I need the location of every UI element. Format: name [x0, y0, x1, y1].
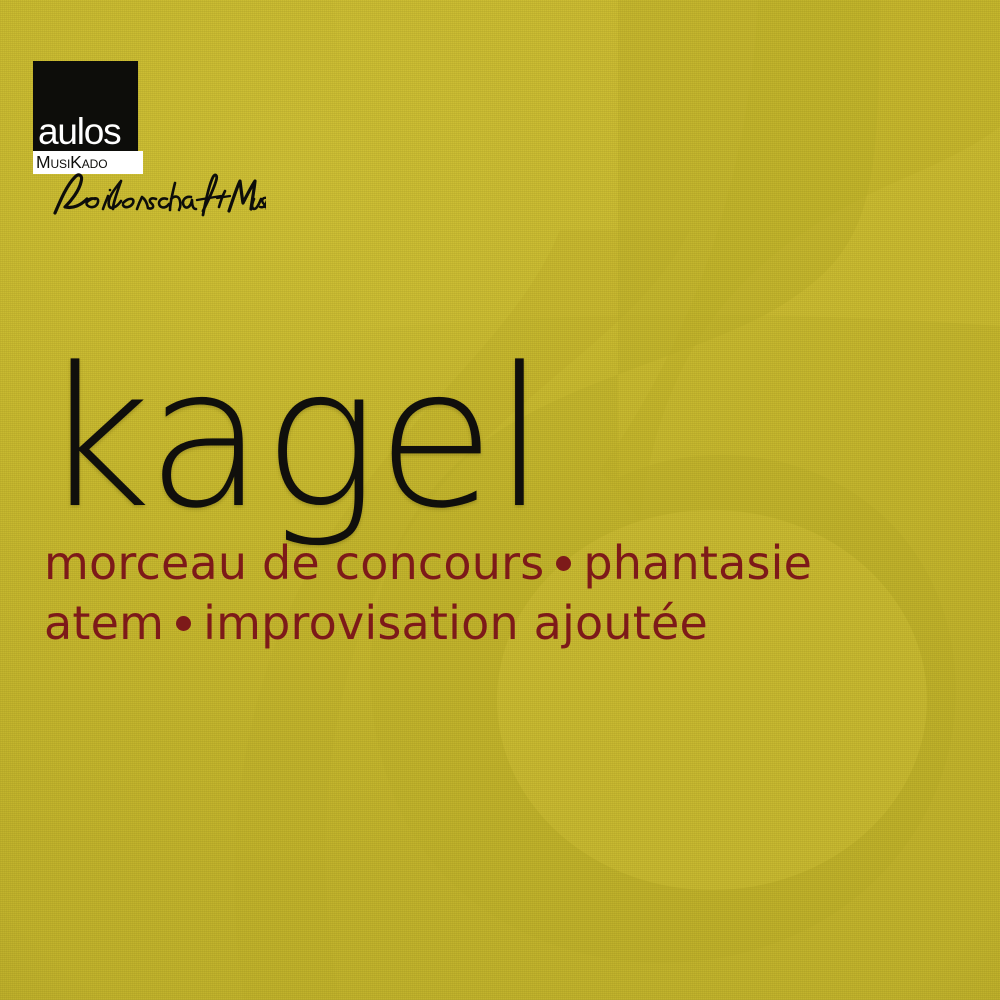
work-atem: atem — [44, 596, 164, 650]
works-line-1: morceau de concoursphantasie — [44, 533, 944, 593]
bullet-separator-icon — [556, 556, 571, 571]
works-list: morceau de concoursphantasie atemimprovi… — [44, 533, 944, 653]
work-improvisation-ajoutee: improvisation ajoutée — [203, 596, 708, 650]
logo-wordmark: aulos — [38, 113, 120, 150]
bullet-separator-icon — [176, 616, 191, 631]
works-line-2: atemimprovisation ajoutée — [44, 593, 944, 653]
album-cover: aulos MusiKado — [0, 0, 1000, 1000]
publisher-logo[interactable]: aulos MusiKado — [33, 61, 265, 151]
logo-black-box: aulos — [33, 61, 138, 151]
composer-title: kagel — [40, 342, 545, 535]
logo-tagline-script — [51, 169, 266, 219]
work-morceau-de-concours: morceau de concours — [44, 536, 544, 590]
work-phantasie: phantasie — [583, 536, 812, 590]
